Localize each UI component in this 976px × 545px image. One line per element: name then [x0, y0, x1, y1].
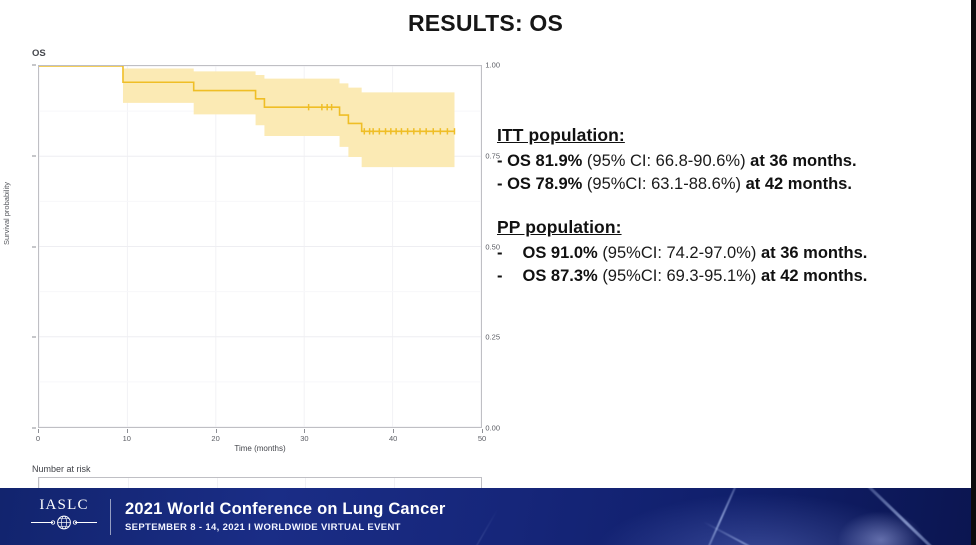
kaplan-meier-chart: OS Survival probability 1.000.750.500.25… [0, 40, 500, 485]
pp-line-1-stat: OS 91.0% [523, 244, 598, 262]
x-tick-mark [127, 429, 128, 433]
itt-population-block: ITT population: - OS 81.9% (95% CI: 66.8… [497, 125, 967, 197]
x-tick-mark [38, 429, 39, 433]
globe-emblem-icon [29, 515, 99, 535]
pp-line-1-tail: at 36 months. [761, 244, 867, 262]
x-tick-label: 0 [36, 434, 40, 443]
pp-heading: PP population: [497, 217, 967, 238]
y-tick-mark [32, 155, 36, 156]
risk-table-title: Number at risk [32, 464, 91, 474]
itt-line-1: - OS 81.9% (95% CI: 66.8-90.6%) at 36 mo… [497, 150, 967, 173]
itt-line-2-tail: at 42 months. [746, 175, 852, 193]
itt-line-1-tail: at 36 months. [750, 152, 856, 170]
x-tick-mark [393, 429, 394, 433]
pp-line-2-bullet: - [497, 267, 503, 285]
y-tick-mark [32, 428, 36, 429]
iaslc-wordmark: IASLC [39, 498, 88, 513]
slide-canvas: RESULTS: OS OS Survival probability 1.00… [0, 0, 976, 545]
km-curve-svg [39, 66, 481, 427]
y-tick-mark [32, 246, 36, 247]
x-tick-label: 30 [300, 434, 308, 443]
pp-line-2: -OS 87.3% (95%CI: 69.3-95.1%) at 42 mont… [497, 265, 967, 288]
y-tick-mark [32, 337, 36, 338]
page-title: RESULTS: OS [0, 10, 971, 37]
x-axis-title: Time (months) [38, 444, 482, 453]
itt-line-2-bullet: - [497, 175, 503, 193]
plot-area [38, 65, 482, 428]
y-tick-label: 0.50 [472, 242, 500, 251]
pp-line-2-ci: (95%CI: 69.3-95.1%) [602, 267, 756, 285]
y-tick-label: 0.00 [472, 424, 500, 433]
itt-line-1-bullet: - [497, 152, 503, 170]
pp-line-2-stat: OS 87.3% [523, 267, 598, 285]
iaslc-logo: IASLC [26, 498, 102, 535]
pp-line-1-ci: (95%CI: 74.2-97.0%) [602, 244, 756, 262]
chart-title: OS [32, 48, 46, 59]
x-tick-mark [304, 429, 305, 433]
itt-line-2-stat: OS 78.9% [507, 175, 582, 193]
y-axis-title: Survival probability [2, 182, 11, 245]
itt-line-1-stat: OS 81.9% [507, 152, 582, 170]
pp-line-1: -OS 91.0% (95%CI: 74.2-97.0%) at 36 mont… [497, 242, 967, 265]
conference-banner: IASLC 2021 Wor [0, 488, 976, 545]
pp-population-block: PP population: -OS 91.0% (95%CI: 74.2-97… [497, 217, 967, 289]
y-tick-label: 0.75 [472, 151, 500, 160]
x-tick-label: 40 [389, 434, 397, 443]
light-streak-decoration [463, 508, 499, 545]
banner-content: IASLC 2021 Wor [26, 488, 445, 545]
y-tick-label: 1.00 [472, 61, 500, 70]
x-tick-mark [482, 429, 483, 433]
banner-divider [110, 499, 111, 535]
light-streak-decoration [694, 488, 749, 545]
banner-text: 2021 World Conference on Lung Cancer SEP… [125, 500, 445, 534]
y-tick-mark [32, 65, 36, 66]
x-tick-label: 50 [478, 434, 486, 443]
itt-line-2-ci: (95%CI: 63.1-88.6%) [587, 175, 741, 193]
banner-subtitle: SEPTEMBER 8 - 14, 2021 I WORLDWIDE VIRTU… [125, 522, 445, 533]
x-tick-mark [216, 429, 217, 433]
pp-line-2-tail: at 42 months. [761, 267, 867, 285]
pp-line-1-bullet: - [497, 244, 503, 262]
screen-edge [971, 0, 976, 545]
x-tick-label: 10 [123, 434, 131, 443]
x-tick-label: 20 [211, 434, 219, 443]
results-text-panel: ITT population: - OS 81.9% (95% CI: 66.8… [497, 125, 967, 289]
itt-line-1-ci: (95% CI: 66.8-90.6%) [587, 152, 746, 170]
itt-line-2: - OS 78.9% (95%CI: 63.1-88.6%) at 42 mon… [497, 173, 967, 196]
itt-heading: ITT population: [497, 125, 967, 146]
banner-glow-decoration [836, 510, 926, 545]
banner-title: 2021 World Conference on Lung Cancer [125, 500, 445, 520]
y-tick-label: 0.25 [472, 333, 500, 342]
